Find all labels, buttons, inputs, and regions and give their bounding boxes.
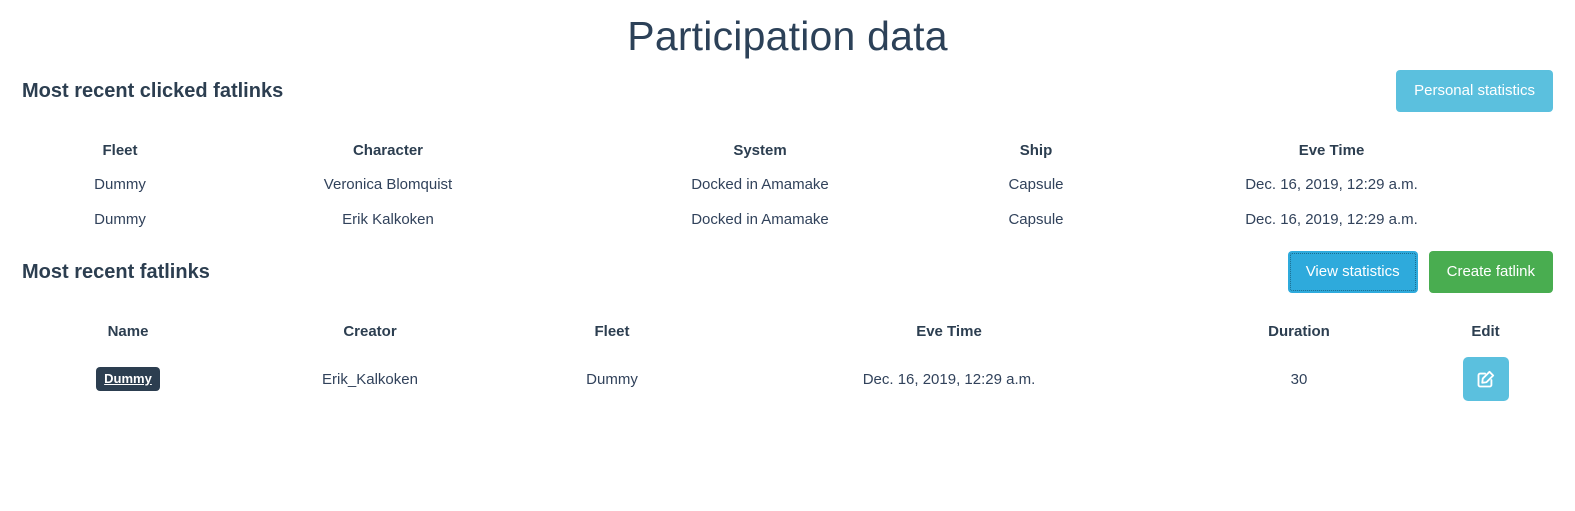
cell-duration: 30 bbox=[1180, 348, 1418, 410]
cell-character: Erik Kalkoken bbox=[218, 202, 558, 237]
column-header-system: System bbox=[558, 134, 962, 167]
cell-system: Docked in Amamake bbox=[558, 167, 962, 202]
cell-ship: Capsule bbox=[962, 167, 1110, 202]
cell-character: Veronica Blomquist bbox=[218, 167, 558, 202]
recent-fatlinks-section-header: Most recent fatlinks View statistics Cre… bbox=[22, 247, 1553, 297]
table-row: Dummy Erik_Kalkoken Dummy Dec. 16, 2019,… bbox=[22, 348, 1553, 410]
cell-fleet: Dummy bbox=[22, 167, 218, 202]
table-header-row: Name Creator Fleet Eve Time Duration Edi… bbox=[22, 315, 1553, 348]
recent-clicked-section-header: Most recent clicked fatlinks Personal st… bbox=[22, 66, 1553, 116]
column-header-duration: Duration bbox=[1180, 315, 1418, 348]
recent-fatlinks-actions: View statistics Create fatlink bbox=[1288, 251, 1553, 293]
page-title: Participation data bbox=[22, 0, 1553, 66]
cell-fleet: Dummy bbox=[22, 202, 218, 237]
column-header-fleet: Fleet bbox=[22, 134, 218, 167]
recent-fatlinks-title: Most recent fatlinks bbox=[22, 259, 210, 285]
participation-data-page: Participation data Most recent clicked f… bbox=[0, 0, 1575, 511]
table-row: Dummy Veronica Blomquist Docked in Amama… bbox=[22, 167, 1553, 202]
edit-fatlink-button[interactable] bbox=[1463, 357, 1509, 401]
fatlink-name-badge: Dummy bbox=[96, 367, 160, 391]
recent-clicked-fatlinks-table: Fleet Character System Ship Eve Time Dum… bbox=[22, 134, 1553, 237]
pen-to-square-icon bbox=[1476, 369, 1496, 389]
personal-statistics-button[interactable]: Personal statistics bbox=[1396, 70, 1553, 112]
recent-fatlinks-table: Name Creator Fleet Eve Time Duration Edi… bbox=[22, 315, 1553, 410]
column-header-character: Character bbox=[218, 134, 558, 167]
table-header-row: Fleet Character System Ship Eve Time bbox=[22, 134, 1553, 167]
cell-ship: Capsule bbox=[962, 202, 1110, 237]
fatlink-name-link[interactable]: Dummy bbox=[104, 371, 152, 386]
column-header-creator: Creator bbox=[234, 315, 506, 348]
column-header-eve-time: Eve Time bbox=[1110, 134, 1553, 167]
cell-system: Docked in Amamake bbox=[558, 202, 962, 237]
cell-edit bbox=[1418, 348, 1553, 410]
cell-eve-time: Dec. 16, 2019, 12:29 a.m. bbox=[1110, 202, 1553, 237]
view-statistics-button[interactable]: View statistics bbox=[1288, 251, 1418, 293]
column-header-name: Name bbox=[22, 315, 234, 348]
cell-eve-time: Dec. 16, 2019, 12:29 a.m. bbox=[718, 348, 1180, 410]
create-fatlink-button[interactable]: Create fatlink bbox=[1429, 251, 1553, 293]
cell-fleet: Dummy bbox=[506, 348, 718, 410]
recent-clicked-title: Most recent clicked fatlinks bbox=[22, 78, 283, 104]
column-header-eve-time: Eve Time bbox=[718, 315, 1180, 348]
table-row: Dummy Erik Kalkoken Docked in Amamake Ca… bbox=[22, 202, 1553, 237]
column-header-fleet: Fleet bbox=[506, 315, 718, 348]
recent-clicked-actions: Personal statistics bbox=[1396, 70, 1553, 112]
cell-eve-time: Dec. 16, 2019, 12:29 a.m. bbox=[1110, 167, 1553, 202]
column-header-edit: Edit bbox=[1418, 315, 1553, 348]
cell-creator: Erik_Kalkoken bbox=[234, 348, 506, 410]
column-header-ship: Ship bbox=[962, 134, 1110, 167]
cell-name: Dummy bbox=[22, 348, 234, 410]
